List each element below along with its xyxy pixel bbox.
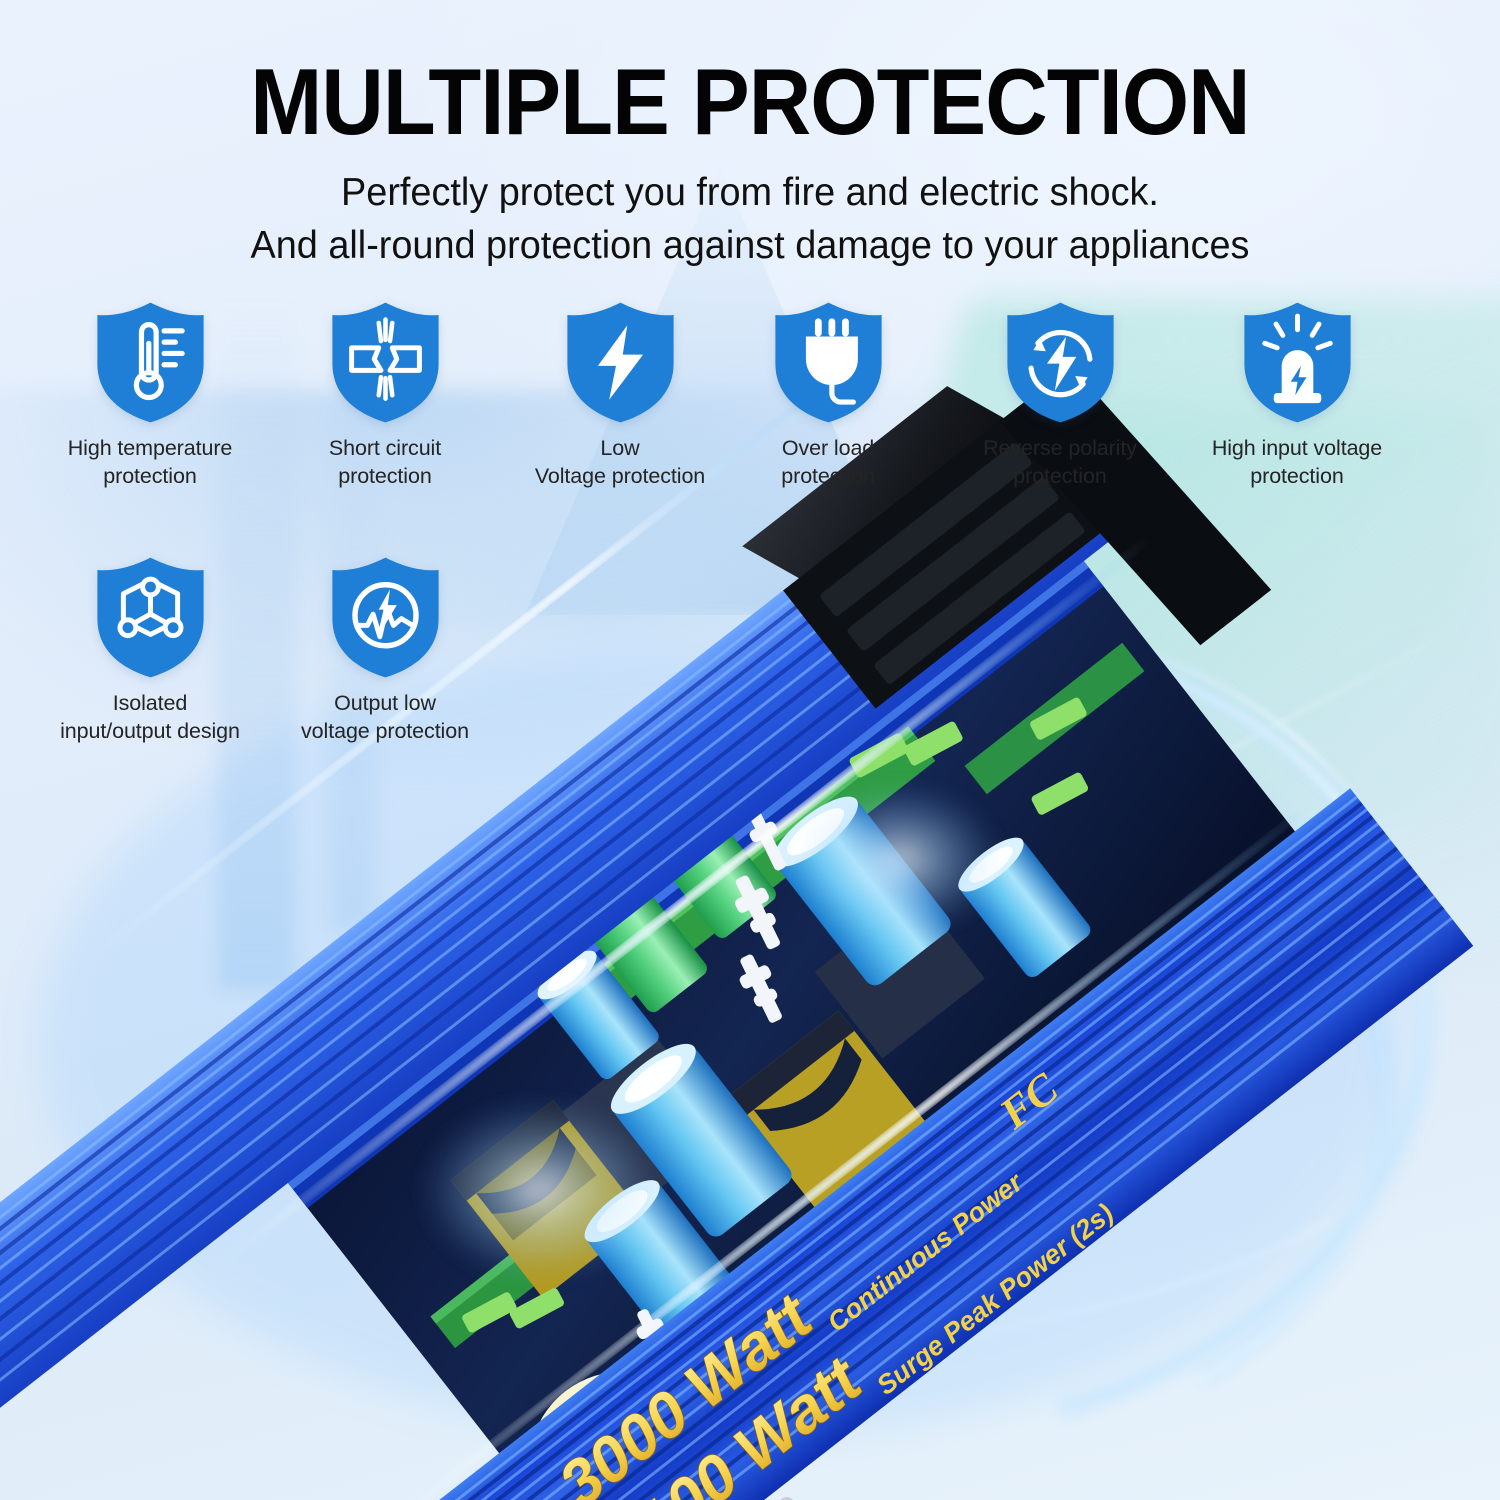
subtitle-line-2: And all-round protection against damage … <box>23 221 1478 272</box>
feature-label-line1: Short circuit <box>329 436 441 460</box>
feature-label: Output low voltage protection <box>270 690 500 746</box>
shield-badge <box>1004 300 1117 425</box>
feature-label-line2: protection <box>1013 464 1106 488</box>
feature-label-line1: High input voltage <box>1212 436 1382 460</box>
feature-over-load-protection[interactable]: Over load protection <box>713 300 943 491</box>
waveform-circle-icon <box>329 555 442 680</box>
feature-high-temperature-protection[interactable]: High temperature protection <box>35 300 265 491</box>
feature-label: High temperature protection <box>35 435 265 491</box>
feature-label-line2: Voltage protection <box>535 464 705 488</box>
header: MULTIPLE PROTECTION Perfectly protect yo… <box>0 0 1500 271</box>
feature-isolated-input-output-design[interactable]: Isolated input/output design <box>35 555 265 746</box>
shield-badge <box>1241 300 1354 425</box>
lightning-bolt-icon <box>564 300 677 425</box>
feature-short-circuit-protection[interactable]: Short circuit protection <box>270 300 500 491</box>
feature-reverse-polarity-protection[interactable]: Reverse polarity protection <box>945 300 1175 491</box>
power-plug-icon <box>772 300 885 425</box>
feature-label: Short circuit protection <box>270 435 500 491</box>
feature-label: Over load protection <box>713 435 943 491</box>
shield-badge <box>329 555 442 680</box>
feature-label: High input voltage protection <box>1182 435 1412 491</box>
shield-badge <box>94 300 207 425</box>
feature-label-line2: voltage protection <box>301 719 469 743</box>
feature-low-voltage-protection[interactable]: Low Voltage protection <box>505 300 735 491</box>
feature-label-line1: High temperature <box>68 436 233 460</box>
shield-badge <box>564 300 677 425</box>
feature-label: Low Voltage protection <box>505 435 735 491</box>
alarm-siren-icon <box>1241 300 1354 425</box>
feature-output-low-voltage-protection[interactable]: Output low voltage protection <box>270 555 500 746</box>
subtitle-line-1: Perfectly protect you from fire and elec… <box>23 168 1478 219</box>
feature-label-line2: protection <box>781 464 874 488</box>
feature-label: Reverse polarity protection <box>945 435 1175 491</box>
feature-label-line1: Output low <box>334 691 436 715</box>
feature-high-input-voltage-protection[interactable]: High input voltage protection <box>1182 300 1412 491</box>
feature-label-line1: Isolated <box>113 691 188 715</box>
thermometer-icon <box>94 300 207 425</box>
molecule-nodes-icon <box>94 555 207 680</box>
feature-label-line2: input/output design <box>60 719 240 743</box>
feature-label-line2: protection <box>1250 464 1343 488</box>
shield-badge <box>329 300 442 425</box>
shield-badge <box>772 300 885 425</box>
feature-label-line1: Over load <box>782 436 874 460</box>
feature-label-line1: Reverse polarity <box>983 436 1137 460</box>
broken-wire-icon <box>329 300 442 425</box>
reverse-polarity-icon <box>1004 300 1117 425</box>
feature-label-line2: protection <box>338 464 431 488</box>
shield-badge <box>94 555 207 680</box>
feature-label-line1: Low <box>600 436 639 460</box>
feature-label: Isolated input/output design <box>35 690 265 746</box>
page-title: MULTIPLE PROTECTION <box>60 54 1440 150</box>
feature-label-line2: protection <box>103 464 196 488</box>
